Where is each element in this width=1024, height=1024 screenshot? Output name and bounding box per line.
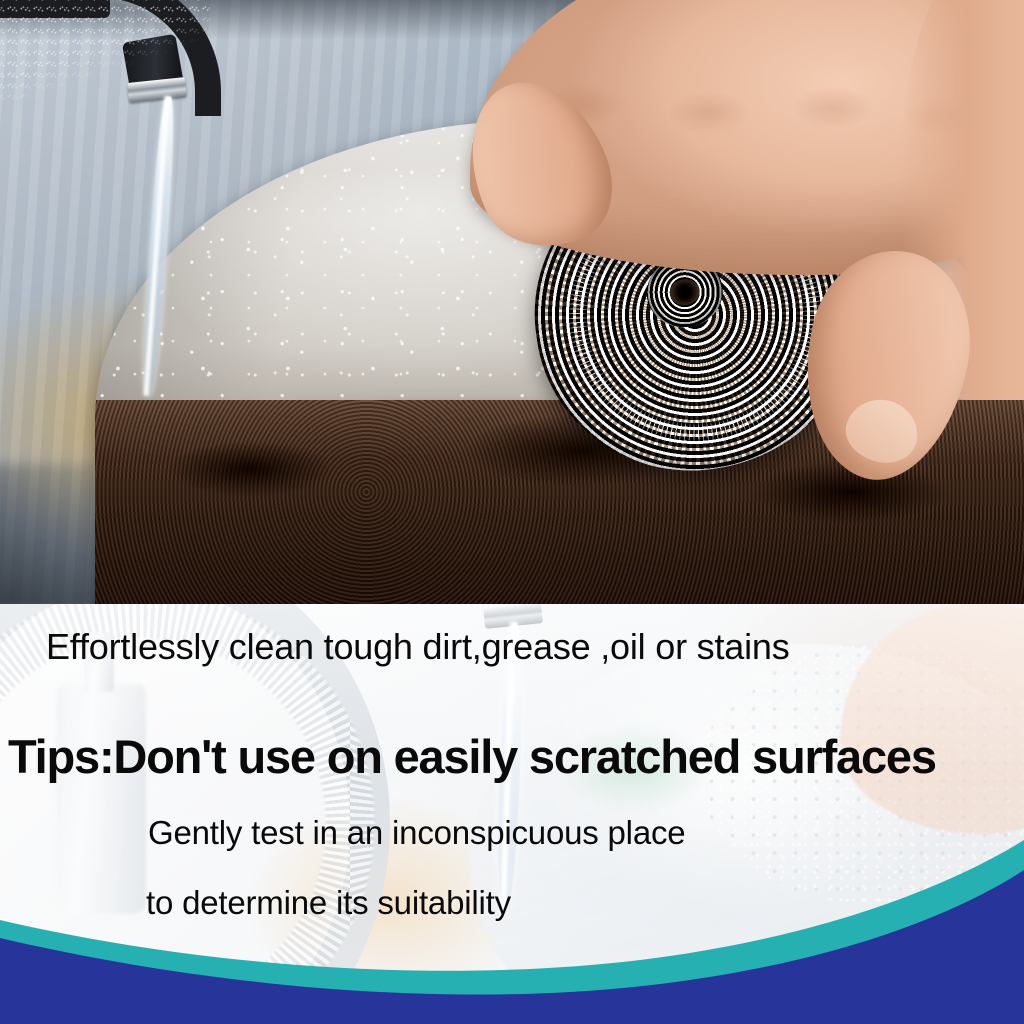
faucet-body [0, 0, 110, 18]
footer-wave-decoration [0, 834, 1024, 1024]
benefit-text: Effortlessly clean tough dirt,grease ,oi… [46, 626, 790, 668]
wave-blue-shape [0, 870, 1024, 1024]
instructions-panel: Effortlessly clean tough dirt,grease ,oi… [0, 604, 1024, 1024]
hero-photo-panel [0, 0, 1024, 604]
tips-heading: Tips:Don't use on easily scratched surfa… [8, 729, 936, 784]
product-infographic-poster: Effortlessly clean tough dirt,grease ,oi… [0, 0, 1024, 1024]
